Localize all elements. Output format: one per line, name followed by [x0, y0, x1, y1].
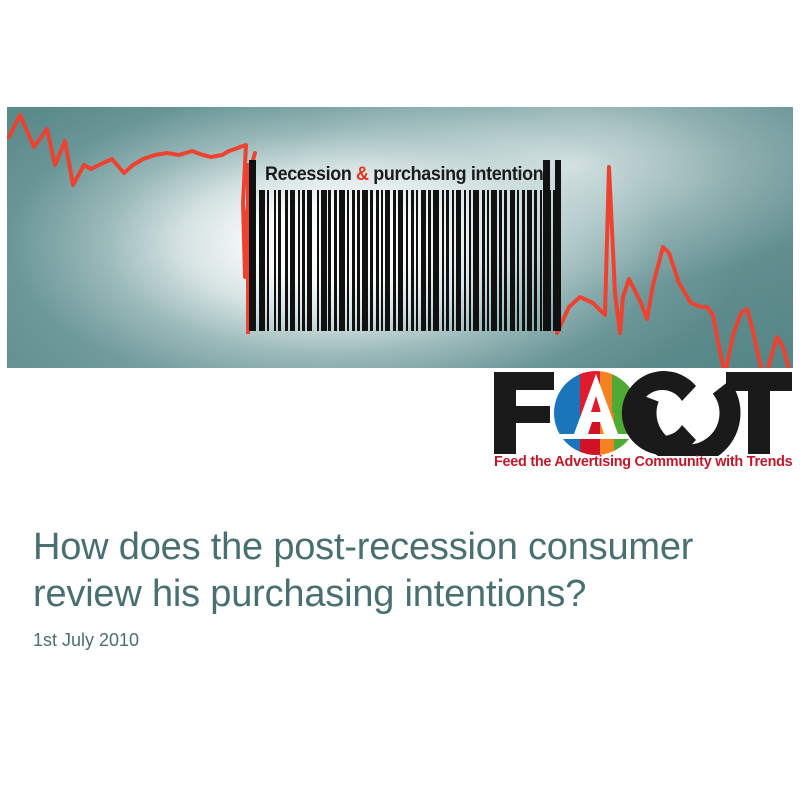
barcode-caption-before: Recession — [265, 163, 356, 185]
page-title: How does the post-recession consumer rev… — [33, 524, 763, 618]
page-title-line-1: How does the post-recession consumer — [33, 526, 693, 568]
logo-letter-a-baseline-gap — [554, 434, 638, 439]
barcode-caption-ampersand: & — [356, 163, 369, 185]
cover-banner-image: Recession & purchasing intention — [7, 107, 793, 368]
fact-logo-tagline: Feed the Advertising Community with Tren… — [494, 454, 794, 470]
page-date: 1st July 2010 — [33, 630, 139, 651]
barcode-caption: Recession & purchasing intention — [265, 160, 539, 189]
barcode-graphic: Recession & purchasing intention — [247, 160, 563, 353]
trend-line-left — [9, 115, 255, 277]
fact-logo: Feed the Advertising Community with Tren… — [492, 368, 794, 480]
barcode-caption-after: purchasing intention — [369, 163, 544, 185]
slide-root: Recession & purchasing intention — [0, 0, 800, 800]
logo-segment-blue — [554, 371, 580, 455]
barcode-bars — [247, 190, 563, 331]
barcode-gap — [555, 190, 563, 331]
trend-line-right — [557, 167, 793, 368]
fact-logo-mark — [492, 368, 794, 456]
page-title-line-2: review his purchasing intentions? — [33, 571, 763, 618]
logo-letter-f — [494, 372, 554, 454]
